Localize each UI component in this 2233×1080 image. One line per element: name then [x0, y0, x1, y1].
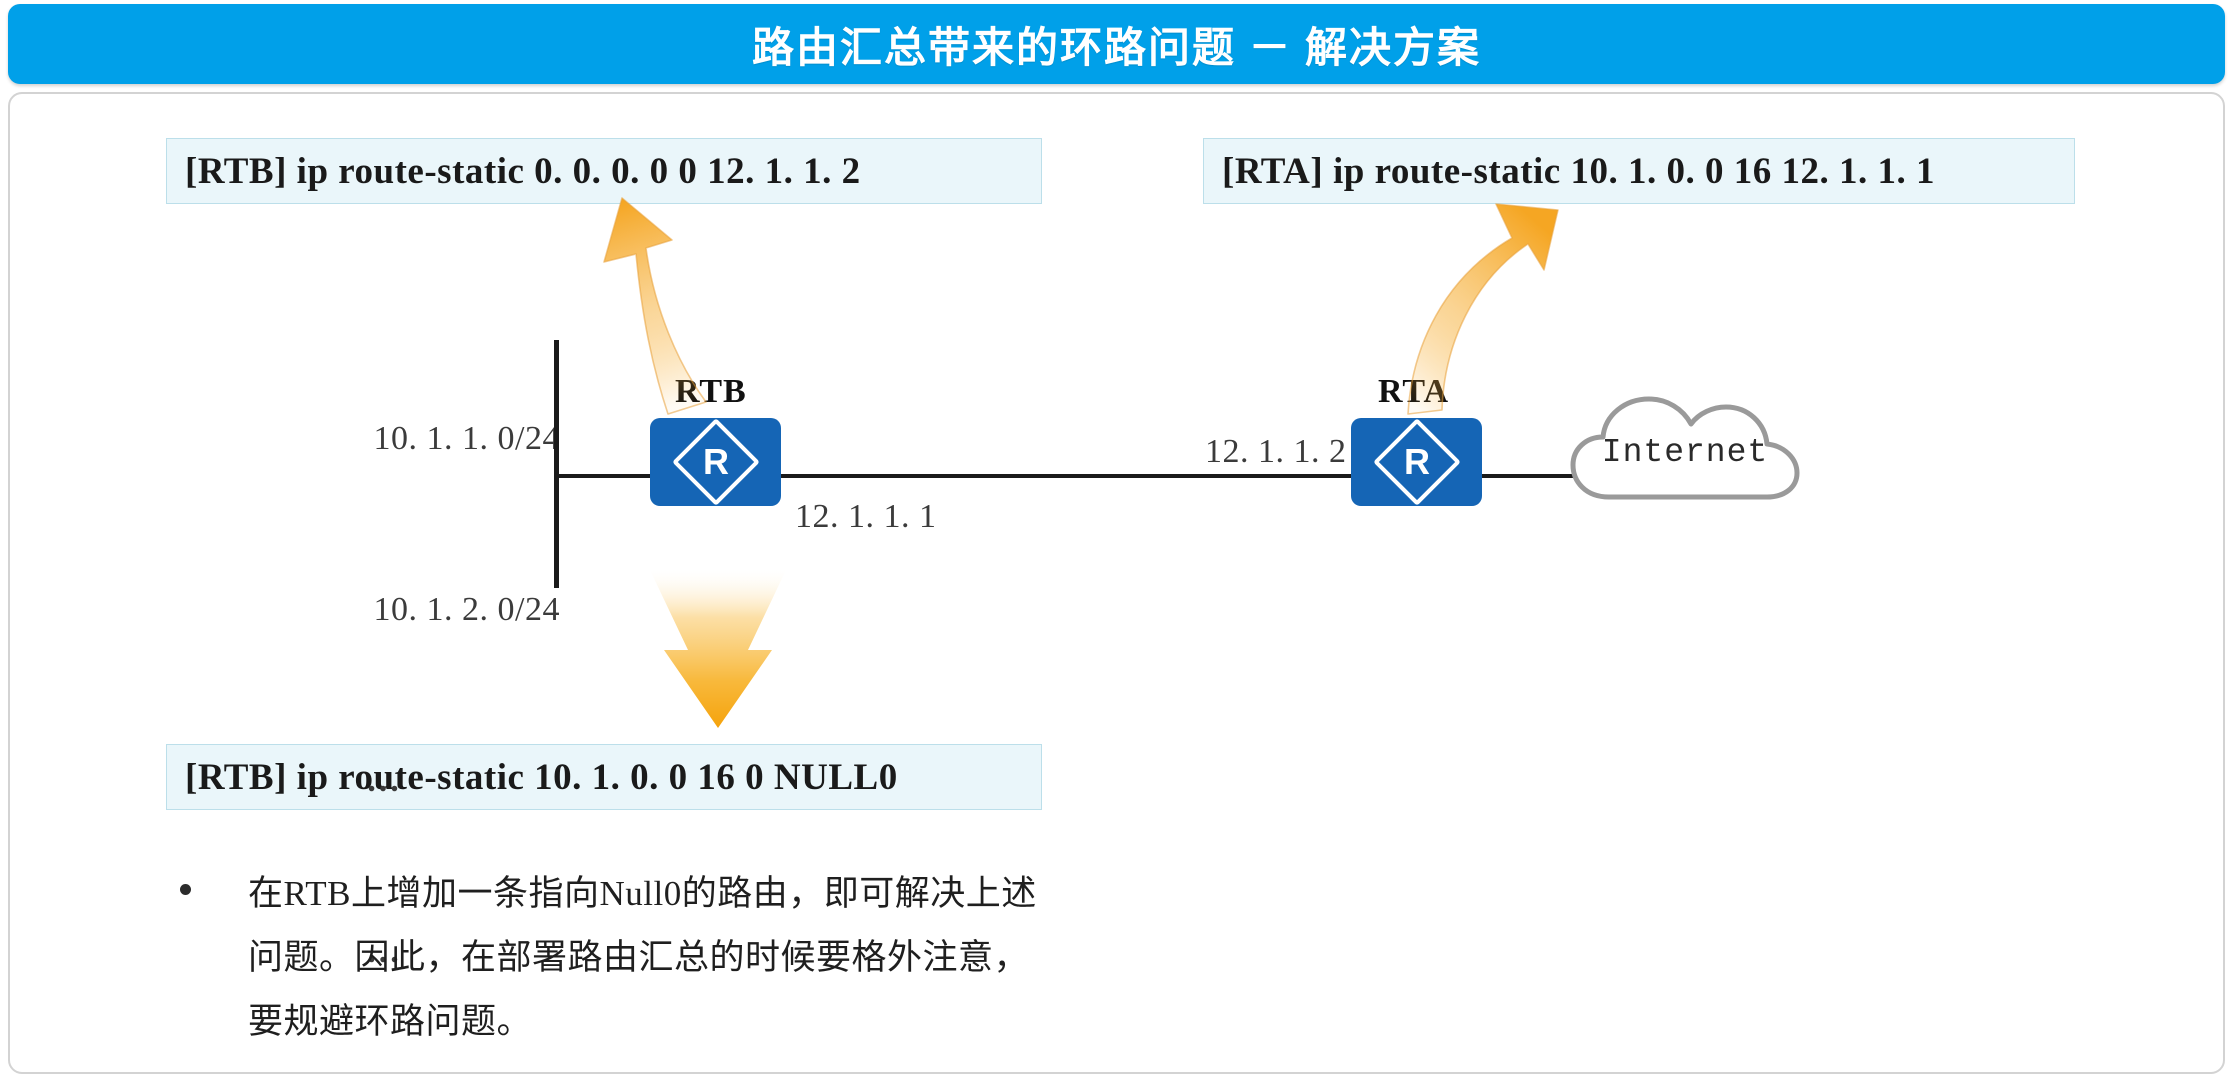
page-title: 路由汇总带来的环路问题 － 解决方案	[752, 14, 1481, 75]
arrow-down-path	[650, 570, 786, 728]
arrow-left-path	[604, 198, 706, 414]
slide-root: 路由汇总带来的环路问题 － 解决方案 [RTB] ip route-static…	[0, 0, 2233, 1080]
command-box-rtb-default-route: [RTB] ip route-static 0. 0. 0. 0 0 12. 1…	[166, 138, 1042, 204]
router-icon-rtb[interactable]: R	[650, 418, 781, 506]
lan-bus-line	[554, 340, 559, 588]
arrow-rta-to-summary-route	[1400, 196, 1630, 416]
arrow-rtb-to-null0-route	[638, 566, 798, 734]
command-box-rta-summary-route: [RTA] ip route-static 10. 1. 0. 0 16 12.…	[1203, 138, 2075, 204]
slide-title-bar: 路由汇总带来的环路问题 － 解决方案	[8, 4, 2225, 84]
router-icon-rta[interactable]: R	[1351, 418, 1482, 506]
subnet-label: 10. 1. 1. 0/24	[250, 410, 560, 467]
bullet-block: 在RTB上增加一条指向Null0的路由，即可解决上述问题。因此，在部署路由汇总的…	[180, 862, 1080, 1054]
lan-to-rtb-link	[554, 474, 650, 478]
router-diamond-icon: R	[1373, 418, 1461, 506]
rtb-to-rta-link	[781, 474, 1351, 478]
arrow-right-path	[1408, 204, 1558, 414]
interface-ip-rta: 12. 1. 1. 2	[1205, 433, 1347, 471]
router-diamond-icon: R	[672, 418, 760, 506]
router-glyph: R	[1404, 444, 1430, 480]
subnet-label: 10. 1. 2. 0/24	[250, 581, 560, 638]
bullet-text: 在RTB上增加一条指向Null0的路由，即可解决上述问题。因此，在部署路由汇总的…	[248, 862, 1038, 1054]
interface-ip-rtb: 12. 1. 1. 1	[795, 498, 937, 536]
arrow-rtb-to-default-route	[580, 196, 780, 416]
subnet-ellipsis: …	[250, 752, 560, 809]
rta-to-internet-link	[1472, 474, 1573, 478]
bullet-dot-icon	[180, 884, 191, 895]
router-glyph: R	[703, 444, 729, 480]
